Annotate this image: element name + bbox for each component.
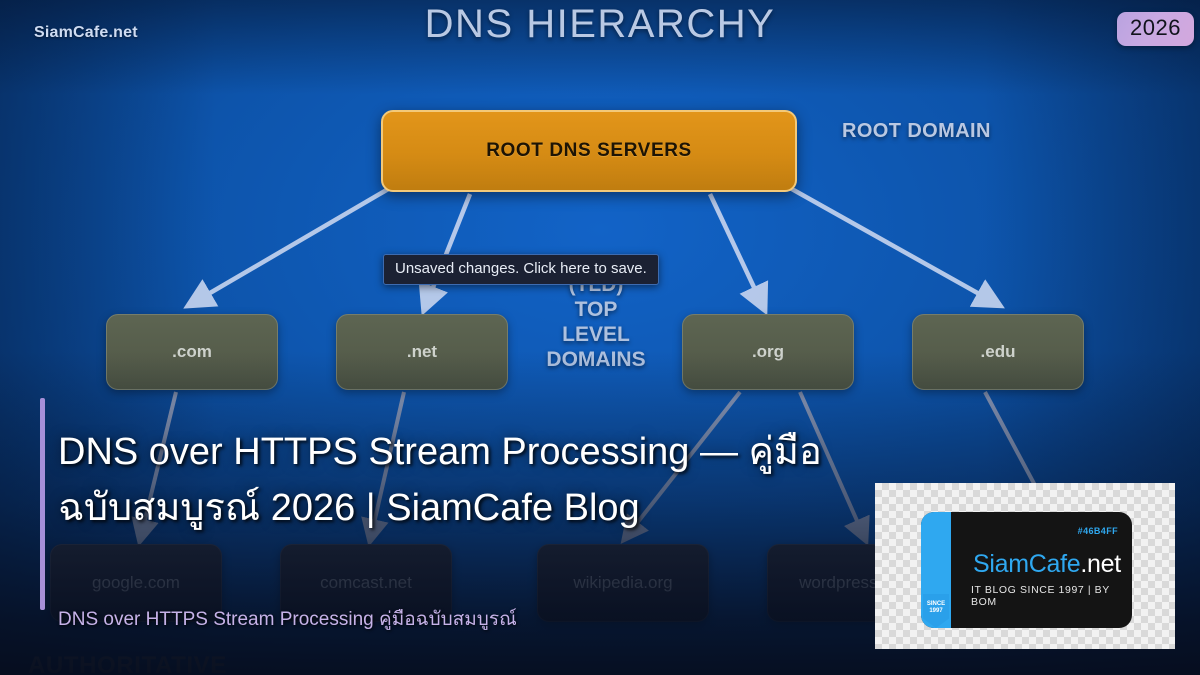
- unsaved-changes-toast[interactable]: Unsaved changes. Click here to save.: [383, 254, 659, 285]
- ribbon-line-2: 1997: [923, 608, 949, 615]
- subheadline-text: DNS over HTTPS Stream Processing คู่มือฉ…: [58, 604, 517, 634]
- logo-brand-suffix: .net: [1080, 550, 1121, 578]
- slide-canvas: ROOT DNS SERVERS ROOT DOMAIN .com .net .…: [0, 0, 1200, 675]
- ribbon-line-1: SINCE: [923, 601, 949, 608]
- year-badge: 2026: [1117, 12, 1194, 46]
- page-title: DNS HIERARCHY: [0, 2, 1200, 47]
- headline-text: DNS over HTTPS Stream Processing — คู่มื…: [58, 424, 868, 536]
- logo-hex-code: #46B4FF: [1078, 526, 1118, 536]
- toast-message: Unsaved changes. Click here to save.: [395, 260, 647, 277]
- logo-tagline: IT BLOG SINCE 1997 | BY BOM: [971, 584, 1132, 608]
- siamcafe-logo-card: SINCE 1997 #46B4FF SiamCafe.net IT BLOG …: [875, 483, 1175, 649]
- logo-inner-panel: SINCE 1997 #46B4FF SiamCafe.net IT BLOG …: [921, 512, 1132, 628]
- headline-accent-bar: [40, 398, 45, 610]
- logo-brand-primary: SiamCafe: [973, 550, 1080, 578]
- logo-brand-name: SiamCafe.net: [973, 550, 1121, 579]
